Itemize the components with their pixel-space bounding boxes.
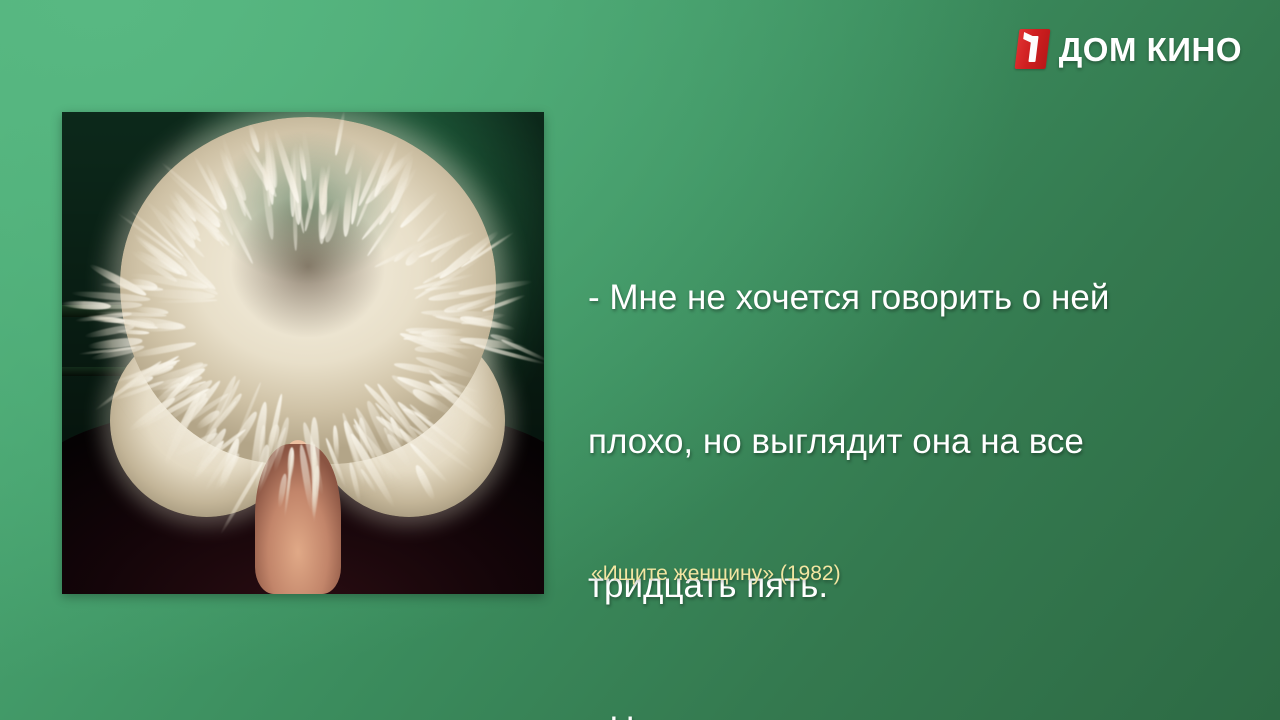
film-still-photo [62, 112, 544, 594]
quote-text: - Мне не хочется говорить о ней плохо, н… [588, 178, 1228, 720]
channel-one-mark-icon [1014, 29, 1050, 69]
film-attribution: «Ищите женщину» (1982) [591, 560, 841, 588]
channel-logo: ДОМ КИНО [1017, 27, 1242, 71]
quote-line: - Мне не хочется говорить о ней [588, 274, 1228, 322]
channel-logo-text: ДОМ КИНО [1059, 33, 1242, 66]
quote-line: плохо, но выглядит она на все [588, 418, 1228, 466]
video-frame: ДОМ КИНО - Мне не хочется говорить о ней… [0, 0, 1280, 720]
quote-line: - Невероятная разница… [588, 706, 1228, 720]
